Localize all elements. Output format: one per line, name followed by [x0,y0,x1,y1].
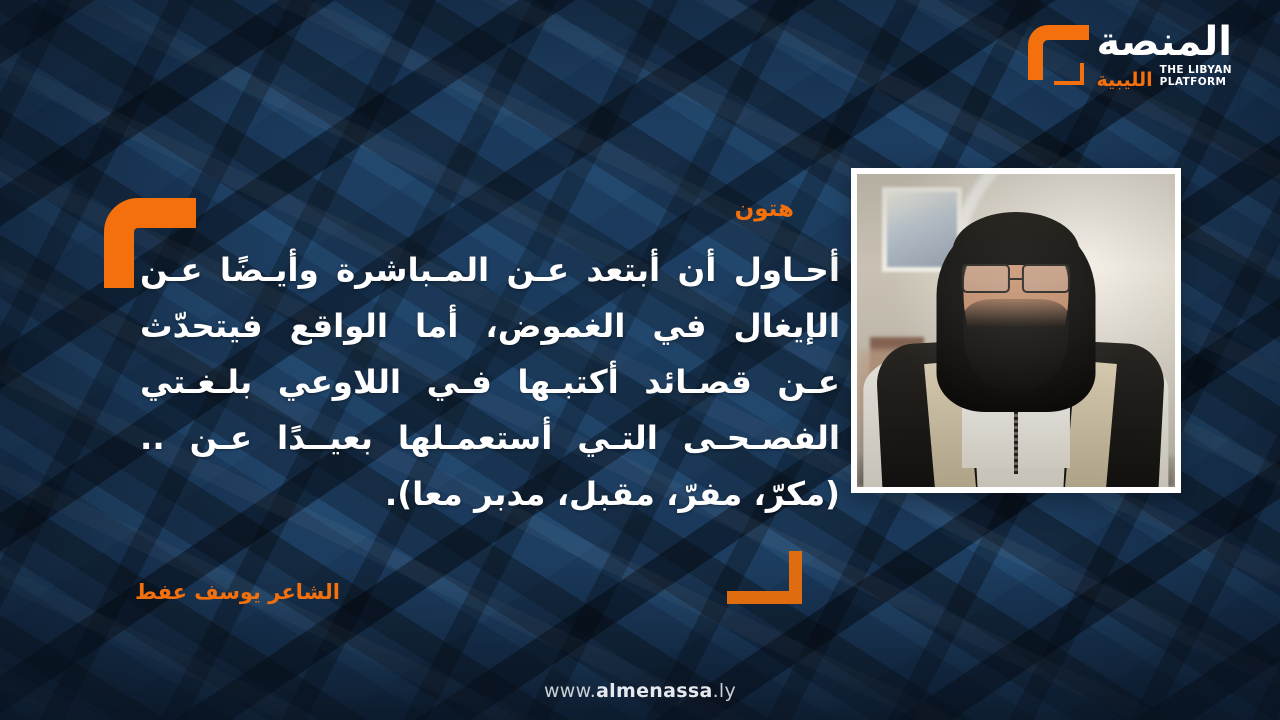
attribution-label: الشاعر يوسف عفط [135,580,340,604]
quote-line: أحـاول أن أبتعد عـن المـباشرة وأيـضًا عـ… [140,243,840,299]
url-brand: almenassa [596,680,713,702]
logo-english-line-2: PLATFORM [1160,77,1232,89]
logo-sub-row: THE LIBYAN PLATFORM الليبية [1096,65,1232,90]
logo-arabic-wordmark: المنصة [1096,22,1232,62]
logo-bracket-lower-icon [1054,63,1084,85]
quote-line: عـن قصـائد أكتبـها فـي اللاوعي بلـغـتي [140,355,840,411]
portrait-photo-frame [851,168,1181,493]
footer-website-url[interactable]: www.almenassa.ly [0,680,1280,702]
closing-quote-mark-shape [727,551,802,604]
url-tld: .ly [713,680,736,702]
logo-english-line-1: THE LIBYAN [1160,65,1232,77]
quote-line: الفصـحـى التـي أستعمـلها بعيــدًا عـن .. [140,411,840,467]
kicker-label: هتون [735,196,794,222]
logo-arabic-subtitle: الليبية [1096,71,1152,90]
quote-text: أحـاول أن أبتعد عـن المـباشرة وأيـضًا عـ… [140,243,840,522]
closing-quote-mark-icon [726,560,802,604]
quote-line: (مكرّ، مفرّ، مقبل، مدبر معا). [140,467,840,523]
quote-card: المنصة THE LIBYAN PLATFORM الليبية هتون … [0,0,1280,720]
logo-english-wordmark: THE LIBYAN PLATFORM [1160,65,1232,90]
quote-line: الإيغال في الغموض، أما الواقع فيتحدّث [140,299,840,355]
portrait-photo [857,174,1175,487]
logo-bracket-icon [1022,25,1086,87]
logo-text-block: المنصة THE LIBYAN PLATFORM الليبية [1096,22,1232,90]
photo-shading-overlay [857,174,1175,487]
url-prefix: www. [544,680,596,702]
brand-logo[interactable]: المنصة THE LIBYAN PLATFORM الليبية [1022,22,1232,90]
